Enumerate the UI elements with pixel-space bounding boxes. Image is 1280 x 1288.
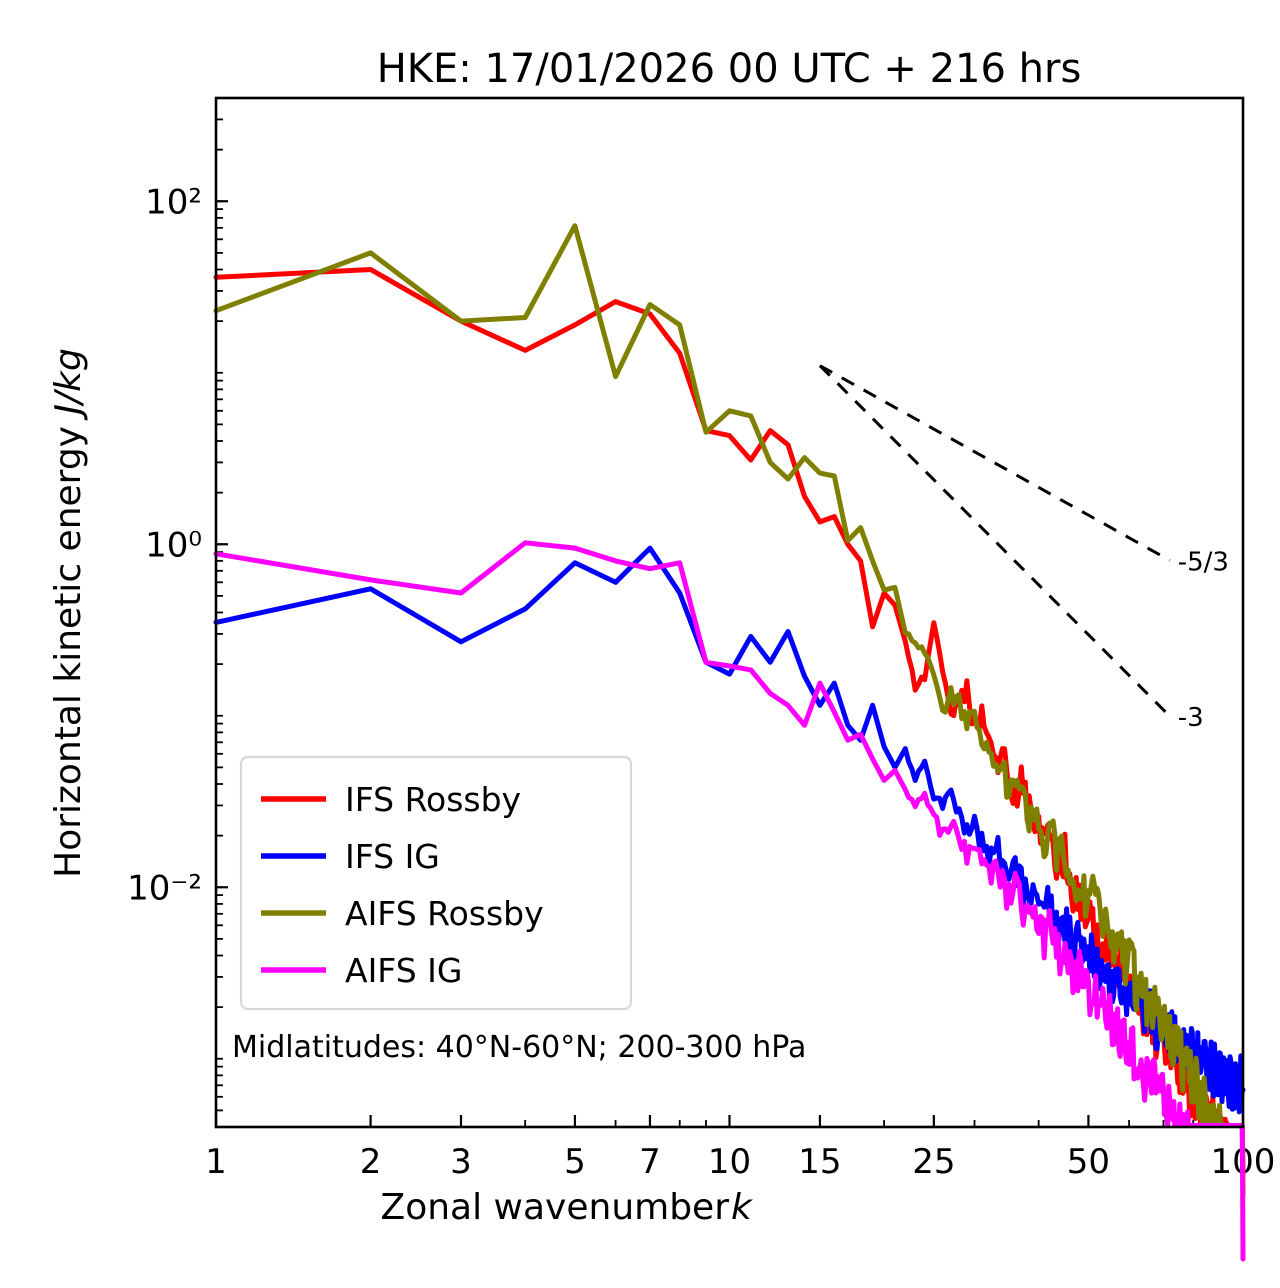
slope-reference-line (820, 366, 1170, 716)
y-tick-label: 10² (145, 182, 202, 222)
slope-label: -3 (1178, 703, 1204, 733)
spectrum-chart: HKE: 17/01/2026 00 UTC + 216 hrs12357101… (0, 0, 1280, 1288)
region-annotation: Midlatitudes: 40°N-60°N; 200-300 hPa (232, 1030, 806, 1065)
x-tick-label: 1 (205, 1142, 227, 1182)
legend-label-2: AIFS Rossby (345, 894, 544, 933)
x-tick-label: 50 (1067, 1142, 1110, 1182)
legend-label-1: IFS IG (345, 837, 440, 876)
figure-canvas: HKE: 17/01/2026 00 UTC + 216 hrs12357101… (0, 0, 1280, 1288)
x-tick-label: 15 (798, 1142, 841, 1182)
slope-label: -5/3 (1178, 547, 1229, 577)
x-tick-label: 2 (360, 1142, 382, 1182)
x-axis-label-italic: k (731, 1187, 754, 1228)
y-axis-label: Horizontal kinetic energy J/kg (48, 348, 89, 878)
y-tick-label: 10⁻² (127, 868, 202, 908)
y-tick-label: 10⁰ (145, 525, 202, 565)
legend-label-0: IFS Rossby (345, 780, 521, 819)
x-tick-label: 3 (450, 1142, 472, 1182)
x-tick-label: 7 (639, 1142, 661, 1182)
x-tick-label: 10 (708, 1142, 751, 1182)
x-tick-label: 25 (912, 1142, 955, 1182)
chart-title: HKE: 17/01/2026 00 UTC + 216 hrs (377, 46, 1082, 92)
legend-label-3: AIFS IG (345, 951, 462, 990)
slope-reference-line (820, 366, 1170, 561)
x-tick-label: 5 (564, 1142, 586, 1182)
x-axis-label: Zonal wavenumber (381, 1187, 730, 1228)
